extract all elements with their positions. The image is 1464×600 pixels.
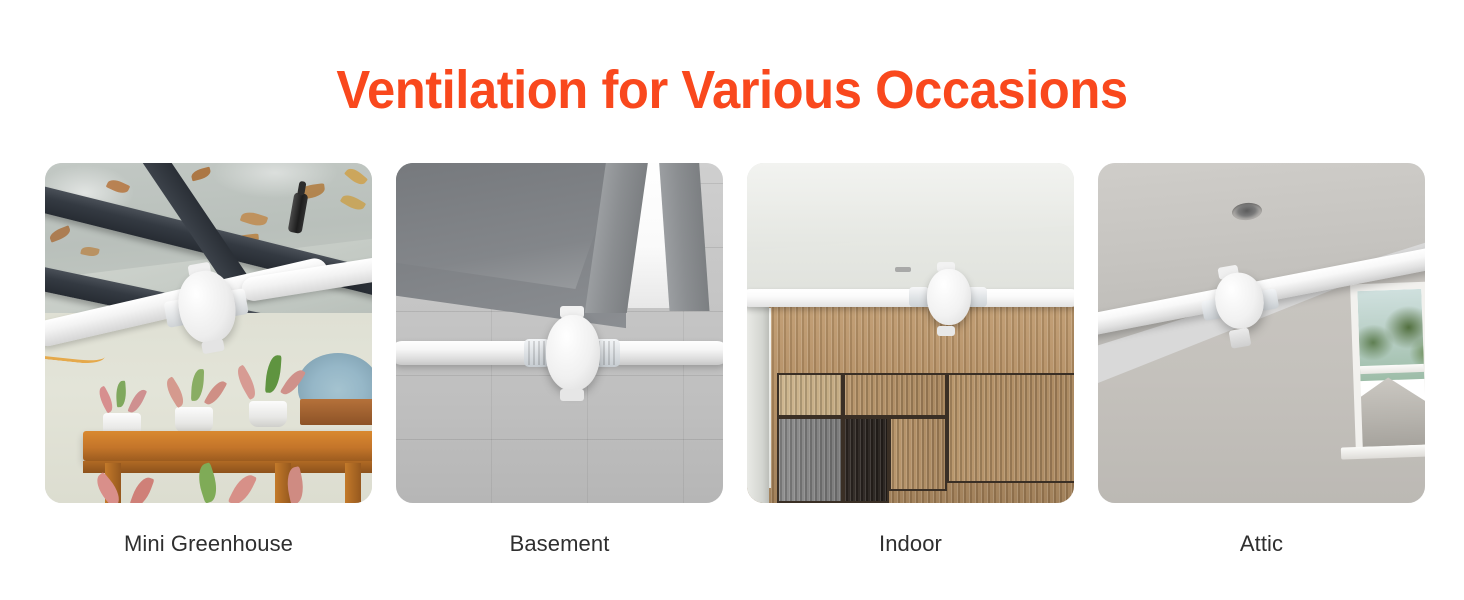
fan-junction-box — [1229, 328, 1252, 349]
plant-leaf — [284, 466, 307, 503]
fan-housing — [173, 267, 241, 348]
fan-junction-box — [937, 326, 955, 336]
greenhouse-planter-crate — [300, 399, 372, 425]
plant-leaf — [228, 471, 257, 503]
indoor-left-frame — [747, 303, 769, 503]
greenhouse-photo — [45, 163, 372, 503]
page-title: Ventilation for Various Occasions — [44, 60, 1420, 120]
cabinet-panel — [843, 417, 889, 503]
indoor-photo — [747, 163, 1074, 503]
attic-photo — [1098, 163, 1425, 503]
inline-duct-fan — [524, 315, 620, 391]
plant-leaf — [194, 462, 222, 503]
occasion-caption: Mini Greenhouse — [124, 529, 293, 559]
occasion-caption: Basement — [510, 529, 610, 559]
plant-leaf — [91, 472, 125, 503]
cabinet-panel — [889, 417, 947, 491]
occasion-caption: Attic — [1240, 529, 1283, 559]
inline-duct-fan — [909, 269, 987, 327]
occasion-card-mini-greenhouse[interactable]: Mini Greenhouse — [45, 163, 372, 559]
cabinet-panel — [777, 373, 843, 417]
foreground-plants — [65, 449, 372, 503]
cabinet-panel — [947, 373, 1074, 483]
fan-housing — [927, 269, 971, 325]
occasion-card-basement[interactable]: Basement — [396, 163, 723, 559]
ventilation-occasions-banner: Ventilation for Various Occasions — [0, 0, 1464, 600]
occasion-caption: Indoor — [879, 529, 942, 559]
attic-window — [1350, 282, 1425, 455]
fan-junction-box — [560, 389, 584, 401]
fan-flange-left — [909, 287, 929, 307]
occasion-card-attic[interactable]: Attic — [1098, 163, 1425, 559]
inline-duct-fan — [159, 264, 252, 349]
plant-pot — [175, 407, 213, 433]
fan-housing — [546, 315, 600, 391]
plant-leaf — [129, 474, 154, 503]
basement-photo — [396, 163, 723, 503]
cabinet-panel — [843, 373, 947, 417]
cabinet-panel — [777, 417, 843, 503]
plant-pot — [249, 401, 287, 427]
occasion-card-row: Mini Greenhouse Basement — [45, 163, 1420, 559]
occasion-card-indoor[interactable]: Indoor — [747, 163, 1074, 559]
inline-duct-fan — [1197, 267, 1279, 341]
